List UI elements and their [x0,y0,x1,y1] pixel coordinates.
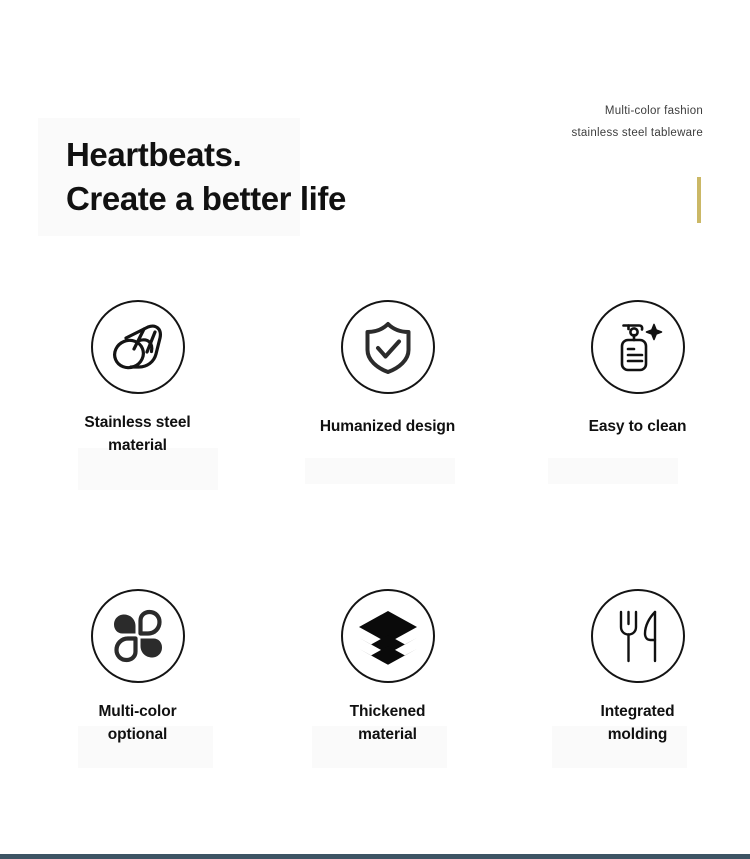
feature-stainless-steel-material: Stainless steel material [25,300,250,457]
feature-label-line-2: material [108,437,167,454]
feature-row-2: Multi-color optional Thickened material [0,589,750,746]
feature-label-line-1: Thickened [350,703,426,720]
feature-label: Integrated molding [601,700,675,746]
fork-knife-icon [591,589,685,683]
feature-label-line-1: Integrated [601,703,675,720]
feature-label: Thickened material [350,700,426,746]
feature-label-line-1: Stainless steel [84,414,190,431]
feature-label-line-1: Humanized design [320,418,455,435]
feature-label-line-1: Multi-color [98,703,176,720]
feature-row-1: Stainless steel material Humanized desig… [0,300,750,457]
bottom-accent-bar [0,854,750,859]
feature-label-line-2: material [358,726,417,743]
accent-bar [697,177,701,223]
product-feature-banner: Multi-color fashion stainless steel tabl… [0,0,750,859]
feature-label: Stainless steel material [84,411,190,457]
feature-label: Humanized design [320,415,455,438]
tagline-line-2: stainless steel tableware [571,122,703,144]
feature-label: Multi-color optional [98,700,176,746]
feature-label-line-2: molding [608,726,668,743]
four-petal-flower-icon [91,589,185,683]
feature-easy-to-clean: Easy to clean [525,300,750,457]
tagline: Multi-color fashion stainless steel tabl… [571,100,703,144]
page-title: Heartbeats. Create a better life [66,133,346,221]
shield-check-icon [341,300,435,394]
feature-thickened-material: Thickened material [275,589,500,746]
stacked-layers-icon [341,589,435,683]
headline-line-2: Create a better life [66,177,346,221]
feature-multi-color-optional: Multi-color optional [25,589,250,746]
feature-label: Easy to clean [589,415,687,438]
headline-line-1: Heartbeats. [66,133,346,177]
steel-cylinder-icon [91,300,185,394]
feature-label-line-2: optional [108,726,167,743]
feature-integrated-molding: Integrated molding [525,589,750,746]
feature-label-line-1: Easy to clean [589,418,687,435]
soap-dispenser-sparkle-icon [591,300,685,394]
tagline-line-1: Multi-color fashion [571,100,703,122]
feature-grid: Stainless steel material Humanized desig… [0,300,750,746]
feature-humanized-design: Humanized design [275,300,500,457]
